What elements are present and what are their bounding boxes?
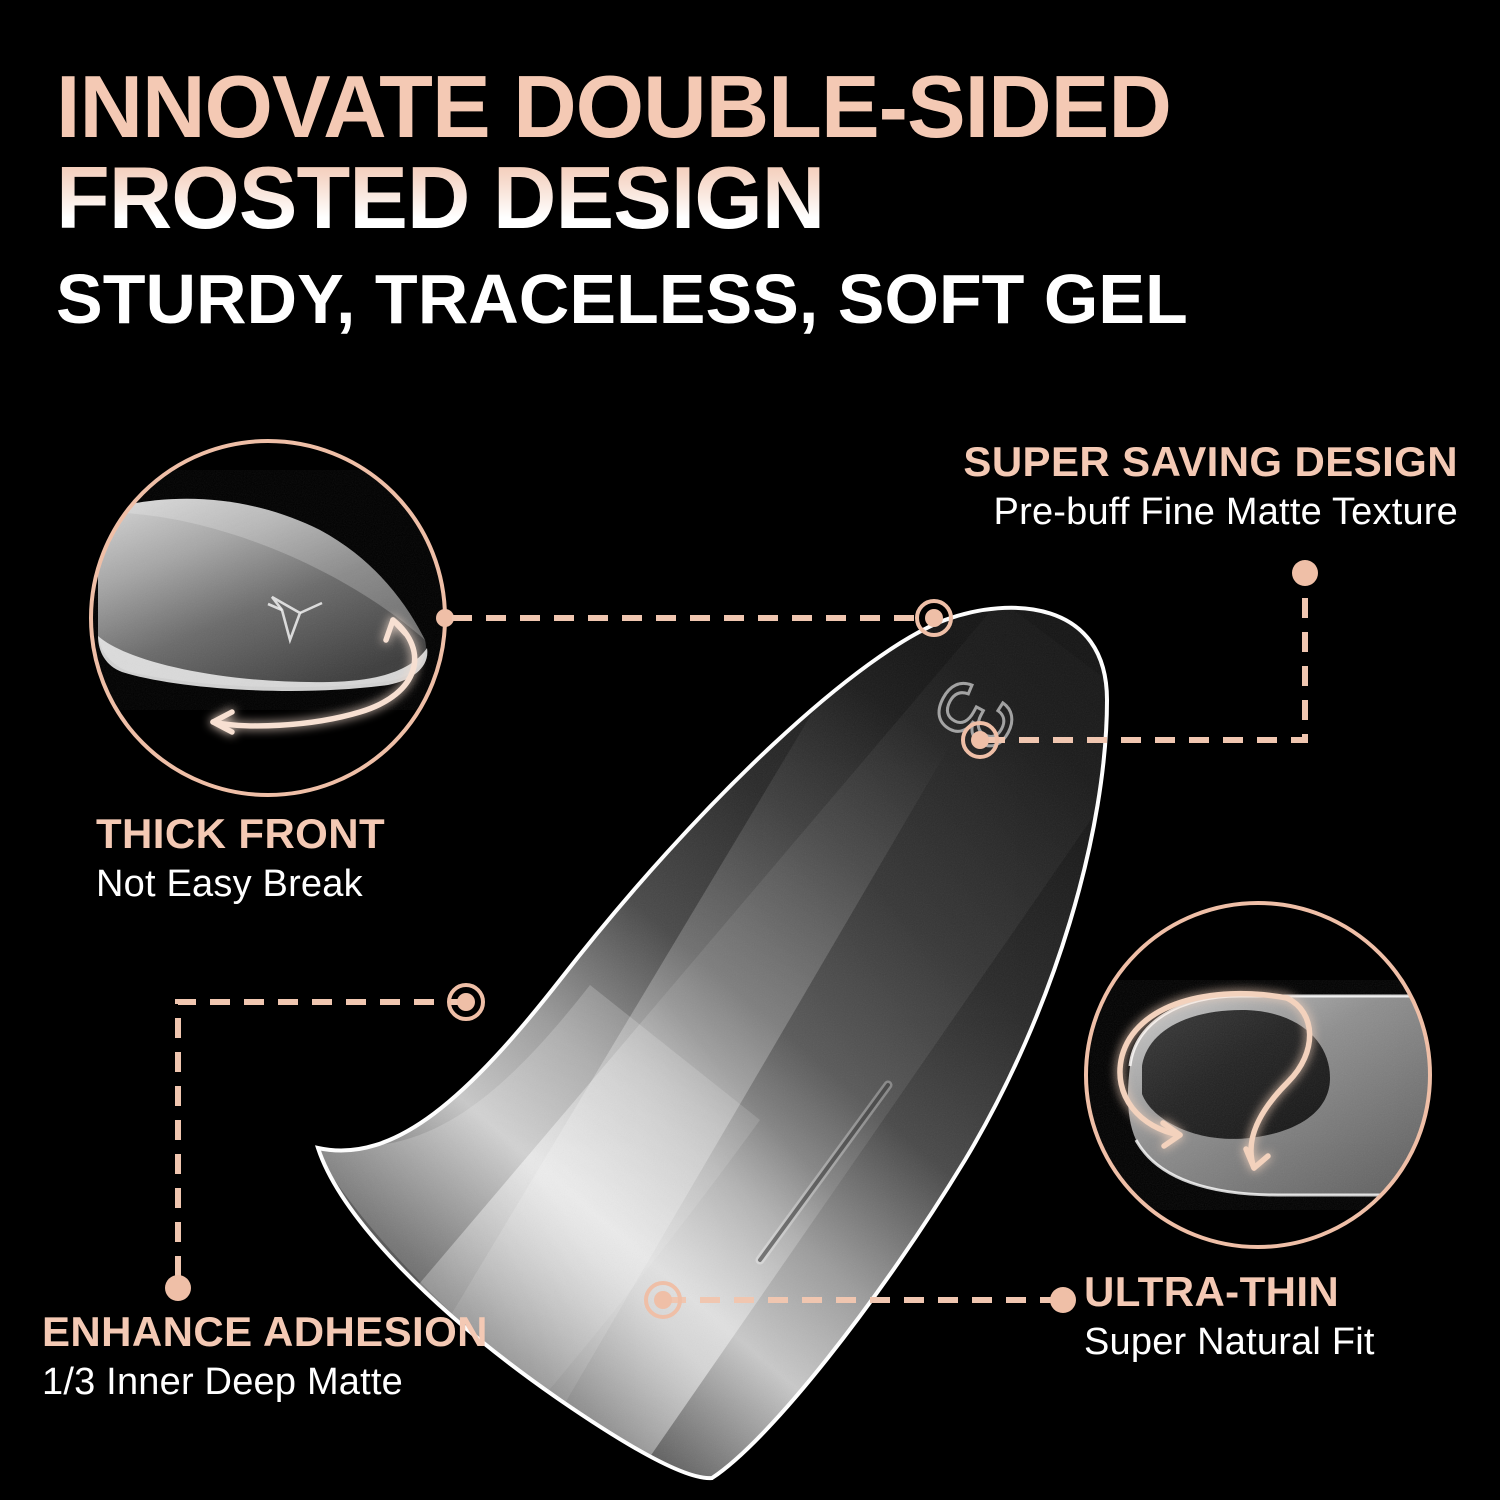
brand-glyph-icon (268, 597, 322, 640)
headline-block: INNOVATE DOUBLE-SIDED FROSTED DESIGN STU… (56, 62, 1456, 337)
thick-front-inset (80, 441, 460, 795)
callout-subtitle: Super Natural Fit (1084, 1319, 1375, 1365)
headline-line-2: FROSTED DESIGN (56, 153, 1456, 244)
connector-super-saving (985, 580, 1305, 740)
center-ridge (760, 1085, 888, 1260)
inset-circle-frame (1086, 903, 1430, 1247)
callout-enhance-adhesion: ENHANCE ADHESION 1/3 Inner Deep Matte (42, 1308, 488, 1405)
callout-thick-front: THICK FRONT Not Easy Break (96, 810, 385, 907)
connector-lines (178, 580, 1305, 1300)
ultra-thin-inset (1086, 903, 1490, 1247)
callout-subtitle: Not Easy Break (96, 861, 385, 907)
rotation-arrow-icon (1120, 994, 1310, 1168)
callout-title: THICK FRONT (96, 810, 385, 857)
size-marking-engraving: 3 (910, 662, 1040, 768)
callout-subtitle: 1/3 Inner Deep Matte (42, 1359, 488, 1405)
rotation-arrow-icon (213, 620, 415, 732)
headline-subtitle: STURDY, TRACELESS, SOFT GEL (56, 263, 1456, 337)
callout-title: ENHANCE ADHESION (42, 1308, 488, 1355)
callout-super-saving-design: SUPER SAVING DESIGN Pre-buff Fine Matte … (963, 438, 1458, 535)
inset-connector-dot (436, 609, 454, 627)
callout-ultra-thin: ULTRA-THIN Super Natural Fit (1084, 1268, 1375, 1365)
callout-title: ULTRA-THIN (1084, 1268, 1375, 1315)
inset-circle-frame (91, 441, 445, 795)
product-infographic: INNOVATE DOUBLE-SIDED FROSTED DESIGN STU… (0, 0, 1500, 1500)
callout-title: SUPER SAVING DESIGN (963, 438, 1458, 485)
connector-enhance-adhesion (178, 1002, 468, 1282)
size-number-text: 3 (910, 662, 1040, 768)
marker-dots (165, 560, 1318, 1317)
headline-line-1: INNOVATE DOUBLE-SIDED (56, 62, 1456, 153)
callout-subtitle: Pre-buff Fine Matte Texture (963, 489, 1458, 535)
